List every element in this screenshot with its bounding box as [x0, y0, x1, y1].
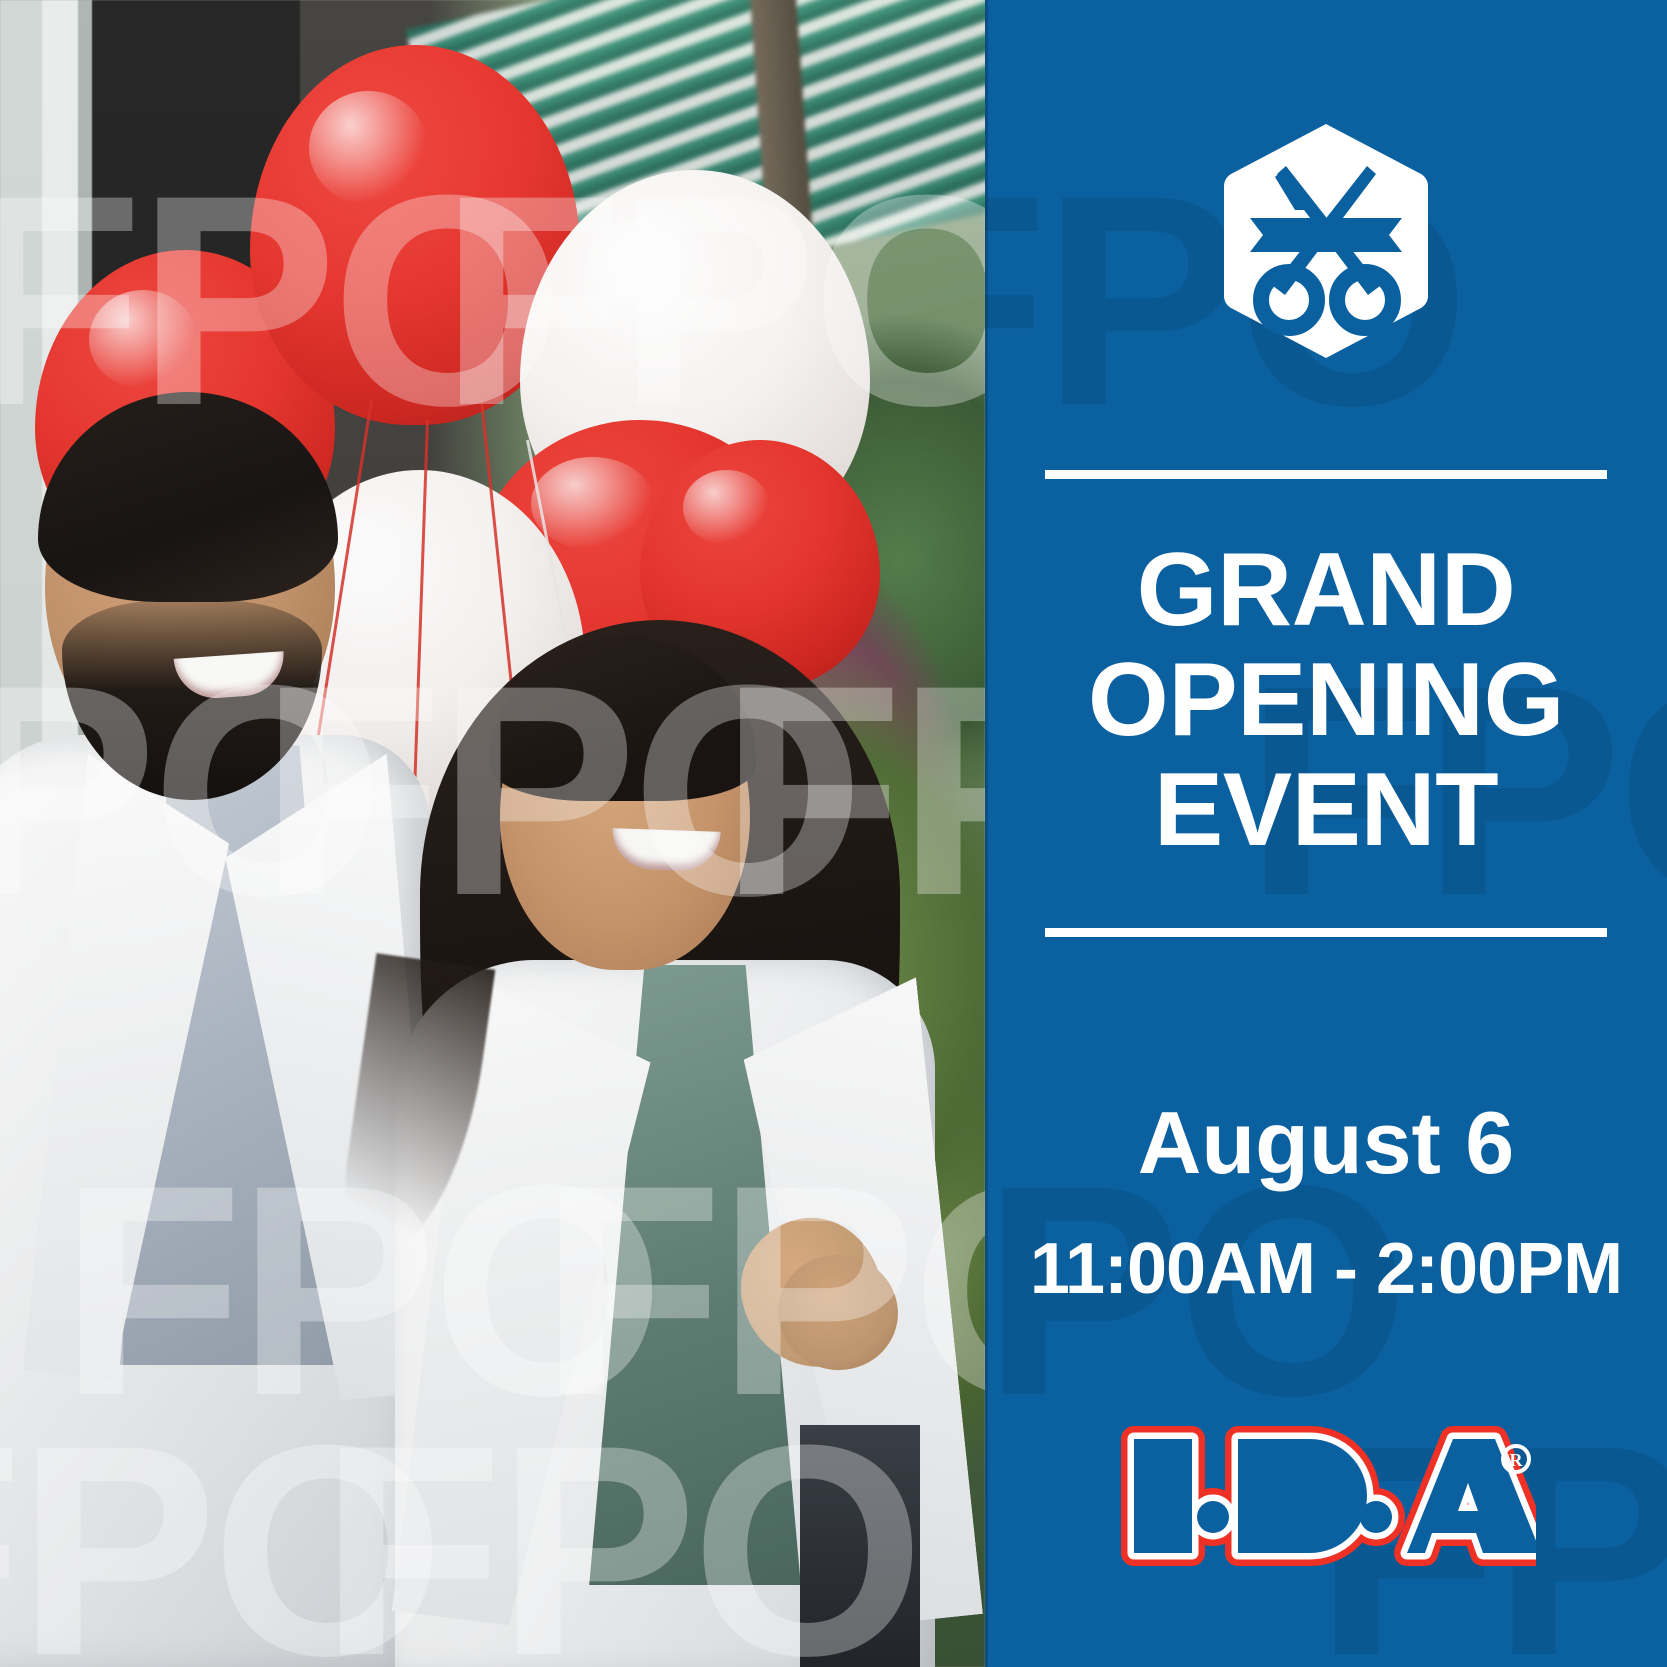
page-title: GRAND OPENING EVENT [1088, 535, 1564, 866]
event-time: 11:00AM - 2:00PM [1030, 1233, 1622, 1305]
info-panel: FPO FPO FPO FPO GRAND OPEN [985, 0, 1667, 1667]
woman-trousers [800, 1425, 920, 1667]
divider-top [1045, 470, 1607, 479]
grand-opening-poster: FPO FPO FPO FPO GRAND OPEN [0, 0, 1667, 1667]
svg-text:R: R [1510, 1450, 1524, 1470]
ida-logo: R [1116, 1421, 1536, 1571]
event-date: August 6 [1138, 1099, 1514, 1187]
divider-bottom [1045, 928, 1607, 937]
ribbon-cutting-scissors-hexagon-icon [1217, 122, 1435, 360]
pharmacists-balloons-photo [0, 0, 985, 1667]
